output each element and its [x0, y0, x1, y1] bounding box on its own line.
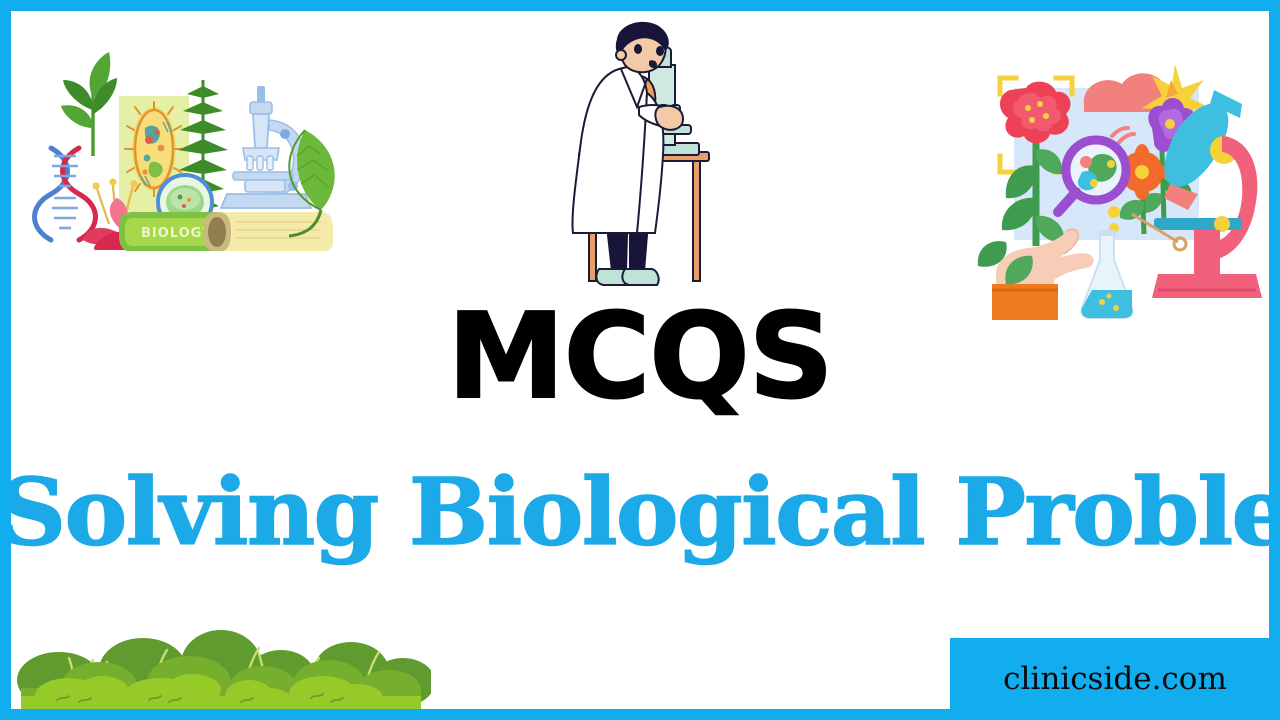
svg-text:BIOLOGY: BIOLOGY: [141, 226, 212, 241]
page-subtitle-subject: Solving Biological Problem: [11, 460, 1269, 564]
dna-helix-icon: [35, 148, 96, 240]
brand-website-label: clinicside.com: [1003, 661, 1227, 697]
green-book-icon: BIOLOGY: [119, 212, 333, 251]
leafy-plant-icon: [61, 52, 117, 156]
scientist-at-microscope-illustration: [541, 21, 756, 296]
brand-footer-band: clinicside.com: [950, 638, 1280, 720]
green-bushes-decoration: [11, 614, 431, 709]
page-title-mcqs: MCQS: [11, 297, 1269, 415]
poster-inner-canvas: BIOLOGY: [11, 11, 1269, 709]
biology-collage-illustration: BIOLOGY: [21, 36, 341, 251]
poster-canvas: BIOLOGY: [0, 0, 1280, 720]
plant-research-illustration: [966, 46, 1266, 321]
microscope-icon: [221, 86, 311, 208]
